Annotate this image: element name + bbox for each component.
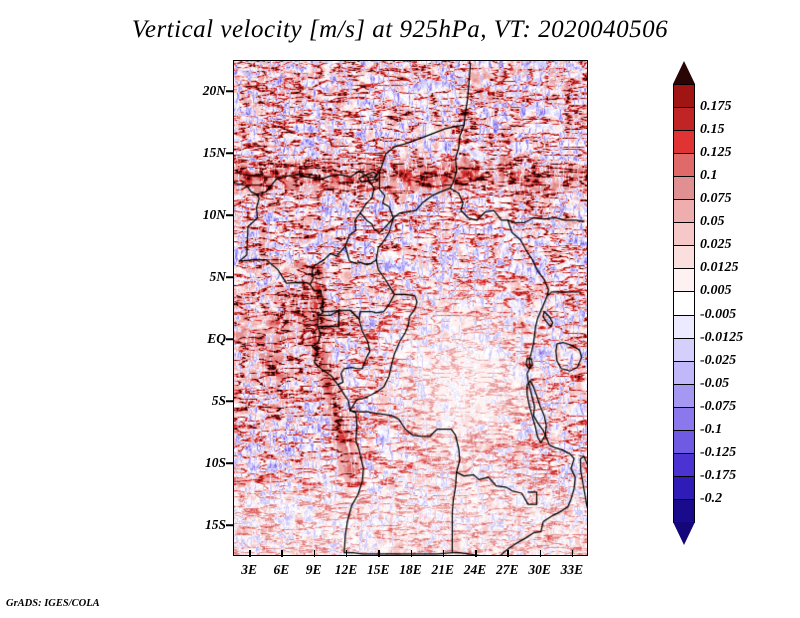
colorbar-segment [673,453,695,477]
x-axis-tick [443,550,445,557]
colorbar-label: -0.005 [700,307,736,323]
colorbar-segment [673,222,695,246]
y-axis-tick [226,400,233,402]
colorbar-label: -0.175 [700,468,736,484]
x-axis-label: 6E [274,562,290,578]
x-axis-tick [411,550,413,557]
colorbar-segment [673,361,695,385]
y-axis-tick [226,152,233,154]
colorbar-label: 0.05 [700,214,725,230]
colorbar: 0.1750.150.1250.10.0750.050.0250.01250.0… [673,84,695,522]
x-axis-label: 18E [399,562,422,578]
colorbar-segment [673,499,695,523]
colorbar-segment [673,268,695,292]
colorbar-extend-min-arrow [673,522,695,545]
x-axis-label: 12E [335,562,358,578]
colorbar-label: 0.1 [700,168,718,184]
page-title: Vertical velocity [m/s] at 925hPa, VT: 2… [0,16,800,44]
colorbar-label: 0.025 [700,237,732,253]
x-axis-label: 15E [367,562,390,578]
x-axis-label: 3E [241,562,257,578]
colorbar-label: -0.025 [700,353,736,369]
y-axis-label: 20N [203,83,226,99]
colorbar-label: -0.05 [700,376,729,392]
y-axis-tick [226,214,233,216]
y-axis-label: 15S [205,517,226,533]
colorbar-segment [673,338,695,362]
colorbar-extend-max-arrow [673,61,695,84]
y-axis-label: EQ [207,331,226,347]
x-axis-tick [475,550,477,557]
x-axis-tick [249,550,251,557]
x-axis-label: 27E [496,562,519,578]
x-axis-label: 33E [561,562,584,578]
colorbar-label: -0.2 [700,491,722,507]
colorbar-label: -0.075 [700,399,736,415]
y-axis-tick [226,338,233,340]
y-axis-label: 15N [203,145,226,161]
x-axis-label: 9E [306,562,322,578]
colorbar-segment [673,153,695,177]
colorbar-segment [673,199,695,223]
x-axis-tick [281,550,283,557]
y-axis-tick [226,276,233,278]
y-axis-label: 10S [205,455,226,471]
colorbar-segment [673,407,695,431]
colorbar-label: 0.175 [700,99,732,115]
colorbar-segment [673,430,695,454]
colorbar-label: 0.075 [700,191,732,207]
y-axis-label: 5S [212,393,226,409]
country-borders-overlay [234,61,587,555]
x-axis: 3E6E9E12E15E18E21E24E27E30E33E [233,558,588,584]
colorbar-label: 0.005 [700,283,732,299]
colorbar-segment [673,315,695,339]
x-axis-tick [378,550,380,557]
colorbar-segment [673,384,695,408]
y-axis-tick [226,90,233,92]
colorbar-label: 0.15 [700,122,725,138]
colorbar-segment [673,130,695,154]
colorbar-label: -0.125 [700,445,736,461]
colorbar-segment [673,245,695,269]
grads-attribution: GrADS: IGES/COLA [6,598,100,609]
x-axis-label: 21E [432,562,455,578]
x-axis-tick [346,550,348,557]
y-axis-tick [226,524,233,526]
colorbar-segment [673,176,695,200]
colorbar-segment [673,476,695,500]
map-plot-panel[interactable] [233,60,588,556]
colorbar-label: -0.0125 [700,330,743,346]
colorbar-label: 0.125 [700,145,732,161]
x-axis-tick [572,550,574,557]
colorbar-segment [673,291,695,315]
colorbar-segment [673,84,695,108]
x-axis-label: 24E [464,562,487,578]
y-axis: 20N15N10N5NEQ5S10S15S [180,60,226,556]
x-axis-tick [507,550,509,557]
x-axis-tick [314,550,316,557]
x-axis-label: 30E [528,562,551,578]
y-axis-label: 5N [210,269,227,285]
y-axis-tick [226,462,233,464]
colorbar-label: 0.0125 [700,260,739,276]
x-axis-tick [540,550,542,557]
colorbar-label: -0.1 [700,422,722,438]
colorbar-segment [673,107,695,131]
y-axis-label: 10N [203,207,226,223]
